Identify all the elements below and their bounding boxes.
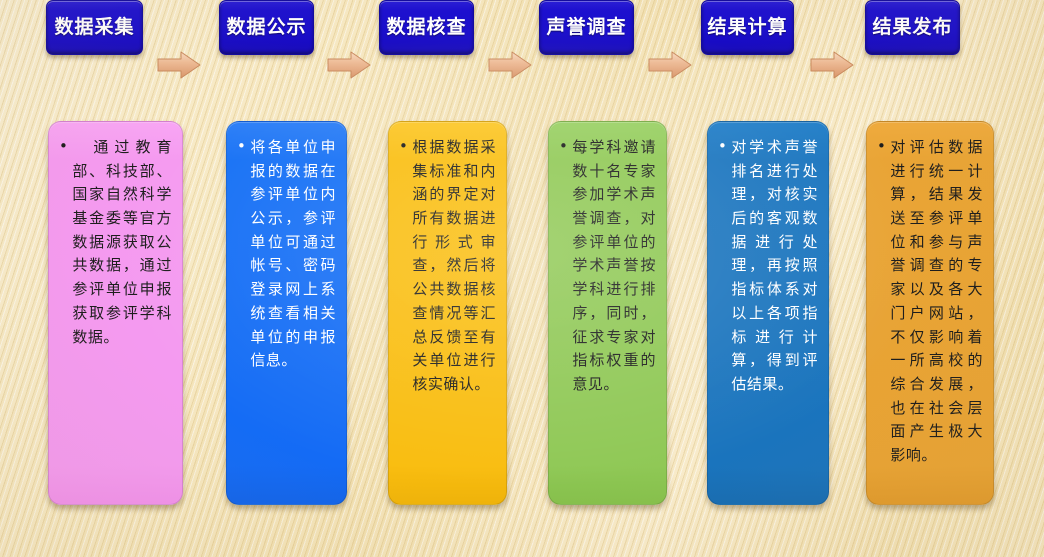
step-header-label-4: 声誉调查: [546, 18, 626, 37]
flow-diagram-canvas: 数据采集 数据公示 数据核查 声誉调查 结果计算 结果发布: [0, 0, 1044, 557]
step-header-label-3: 数据核查: [386, 18, 466, 37]
step-card-body-1: • 通过教育部、科技部、国家自然科学基金委等官方数据源获取公共数据，通过参评单位…: [59, 136, 172, 349]
bullet-icon-6: •: [877, 135, 886, 159]
step-header-label-6: 结果发布: [872, 18, 952, 37]
step-card-body-6: • 对评估数据进行统一计算，结果发送至参评单位和参与声誉调查的专家以及各大门户网…: [877, 136, 983, 468]
step-header-1[interactable]: 数据采集: [46, 0, 143, 55]
bullet-icon-5: •: [718, 135, 727, 159]
step-card-text-2: 将各单位申报的数据在参评单位内公示，参评单位可通过帐号、密码登录网上系统查看相关…: [250, 136, 336, 373]
flow-arrow-icon-1: [157, 50, 201, 80]
step-card-body-5: • 对学术声誉排名进行处理，对核实后的客观数据进行处理，再按照指标体系对以上各项…: [718, 136, 818, 397]
step-card-3[interactable]: • 根据数据采集标准和内涵的界定对所有数据进行形式审查，然后将公共数据核查情况等…: [388, 121, 507, 505]
step-header-4[interactable]: 声誉调查: [539, 0, 634, 55]
bullet-icon-1: •: [59, 135, 68, 159]
step-header-label-1: 数据采集: [54, 18, 134, 37]
step-card-6[interactable]: • 对评估数据进行统一计算，结果发送至参评单位和参与声誉调查的专家以及各大门户网…: [866, 121, 994, 505]
step-card-5[interactable]: • 对学术声誉排名进行处理，对核实后的客观数据进行处理，再按照指标体系对以上各项…: [707, 121, 829, 505]
step-header-label-2: 数据公示: [226, 18, 306, 37]
step-card-text-4: 每学科邀请数十名专家参加学术声誉调查，对参评单位的学术声誉按 学科进行排序，同时…: [572, 136, 656, 397]
flow-arrow-icon-2: [327, 50, 371, 80]
flow-arrow-icon-3: [488, 50, 532, 80]
step-header-6[interactable]: 结果发布: [865, 0, 960, 55]
step-header-label-5: 结果计算: [707, 18, 787, 37]
step-card-2[interactable]: • 将各单位申报的数据在参评单位内公示，参评单位可通过帐号、密码登录网上系统查看…: [226, 121, 347, 505]
step-card-4[interactable]: • 每学科邀请数十名专家参加学术声誉调查，对参评单位的学术声誉按 学科进行排序，…: [548, 121, 667, 505]
step-card-text-1: 通过教育部、科技部、国家自然科学基金委等官方数据源获取公共数据，通过参评单位申报…: [72, 136, 172, 349]
step-header-3[interactable]: 数据核查: [379, 0, 474, 55]
step-card-text-6: 对评估数据进行统一计算，结果发送至参评单位和参与声誉调查的专家以及各大门户网站，…: [890, 136, 983, 468]
step-card-body-4: • 每学科邀请数十名专家参加学术声誉调查，对参评单位的学术声誉按 学科进行排序，…: [559, 136, 656, 397]
bullet-icon-2: •: [237, 135, 246, 159]
step-card-body-2: • 将各单位申报的数据在参评单位内公示，参评单位可通过帐号、密码登录网上系统查看…: [237, 136, 336, 373]
step-card-body-3: • 根据数据采集标准和内涵的界定对所有数据进行形式审查，然后将公共数据核查情况等…: [399, 136, 496, 397]
flow-arrow-icon-5: [810, 50, 854, 80]
step-header-2[interactable]: 数据公示: [219, 0, 314, 55]
flow-arrow-icon-4: [648, 50, 692, 80]
step-card-1[interactable]: • 通过教育部、科技部、国家自然科学基金委等官方数据源获取公共数据，通过参评单位…: [48, 121, 183, 505]
bullet-icon-4: •: [559, 135, 568, 159]
flow-track: 数据采集 数据公示 数据核查 声誉调查 结果计算 结果发布: [0, 0, 1044, 557]
step-card-text-3: 根据数据采集标准和内涵的界定对所有数据进行形式审查，然后将公共数据核查情况等汇总…: [412, 136, 496, 397]
step-card-text-5: 对学术声誉排名进行处理，对核实后的客观数据进行处理，再按照指标体系对以上各项指标…: [731, 136, 818, 397]
step-header-5[interactable]: 结果计算: [701, 0, 794, 55]
bullet-icon-3: •: [399, 135, 408, 159]
